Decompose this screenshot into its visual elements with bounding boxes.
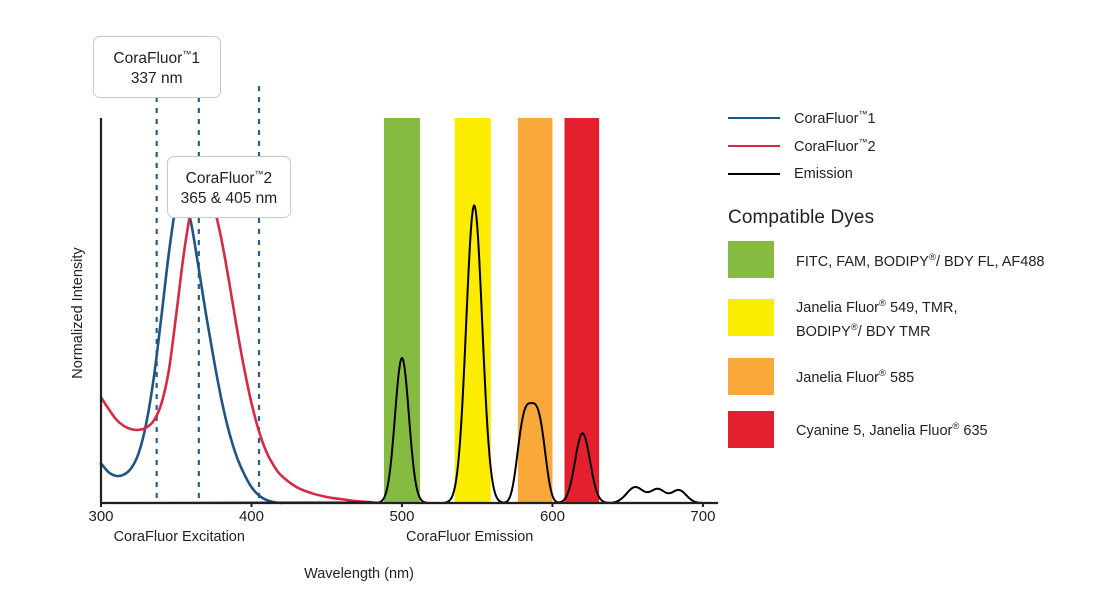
- compatible-dyes-list: FITC, FAM, BODIPY®/ BDY FL, AF488Janelia…: [728, 241, 1088, 448]
- x-axis-title: Wavelength (nm): [0, 566, 718, 582]
- annotation-1-line1: CoraFluor™1: [106, 44, 208, 69]
- legend-item-label: CoraFluor™2: [794, 137, 876, 155]
- annotation-corafluor-2: CoraFluor™2 365 & 405 nm: [167, 156, 291, 218]
- legend-item-2[interactable]: Emission: [728, 160, 1088, 187]
- legend-item-0[interactable]: CoraFluor™1: [728, 104, 1088, 131]
- annotation-1-line2: 337 nm: [106, 69, 208, 89]
- series-legend: CoraFluor™1CoraFluor™2Emission: [728, 104, 1088, 187]
- x-axis-sublabel-emission: CoraFluor Emission: [320, 529, 620, 545]
- dye-item-0[interactable]: FITC, FAM, BODIPY®/ BDY FL, AF488: [728, 241, 1088, 278]
- y-axis-title: Normalized Intensity: [70, 213, 86, 413]
- dye-item-label: FITC, FAM, BODIPY®/ BDY FL, AF488: [796, 248, 1044, 272]
- legend-item-1[interactable]: CoraFluor™2: [728, 132, 1088, 159]
- emission-band-group: [384, 118, 599, 503]
- compatible-dyes-title: Compatible Dyes: [728, 207, 1088, 229]
- legend-panel: CoraFluor™1CoraFluor™2Emission Compatibl…: [728, 104, 1088, 464]
- dye-item-1[interactable]: Janelia Fluor® 549, TMR,BODIPY®/ BDY TMR: [728, 294, 1088, 342]
- legend-line-swatch-icon: [728, 145, 780, 147]
- legend-item-label: CoraFluor™1: [794, 109, 876, 127]
- x-tick-label-700: 700: [673, 508, 733, 525]
- legend-line-swatch-icon: [728, 173, 780, 175]
- dye-item-3[interactable]: Cyanine 5, Janelia Fluor® 635: [728, 411, 1088, 448]
- excitation-vline-group: [157, 86, 259, 503]
- legend-line-swatch-icon: [728, 117, 780, 119]
- x-tick-label-500: 500: [372, 508, 432, 525]
- dye-item-2[interactable]: Janelia Fluor® 585: [728, 358, 1088, 395]
- x-axis-sublabel-excitation: CoraFluor Excitation: [29, 529, 329, 545]
- emission-band-2: [518, 118, 553, 503]
- x-tick-label-400: 400: [221, 508, 281, 525]
- x-tick-label-600: 600: [522, 508, 582, 525]
- dye-color-swatch: [728, 411, 774, 448]
- annotation-corafluor-1: CoraFluor™1 337 nm: [93, 36, 221, 98]
- dye-item-label: Cyanine 5, Janelia Fluor® 635: [796, 417, 988, 441]
- curve-excitation-0: [101, 186, 282, 503]
- emission-band-0: [384, 118, 420, 503]
- dye-color-swatch: [728, 299, 774, 336]
- dye-color-swatch: [728, 358, 774, 395]
- x-tick-label-300: 300: [71, 508, 131, 525]
- annotation-2-line1: CoraFluor™2: [180, 164, 278, 189]
- emission-band-3: [565, 118, 600, 503]
- dye-color-swatch: [728, 241, 774, 278]
- dye-item-label: Janelia Fluor® 549, TMR,BODIPY®/ BDY TMR: [796, 294, 957, 342]
- dye-item-label: Janelia Fluor® 585: [796, 364, 914, 388]
- annotation-2-line2: 365 & 405 nm: [180, 189, 278, 209]
- legend-item-label: Emission: [794, 166, 853, 182]
